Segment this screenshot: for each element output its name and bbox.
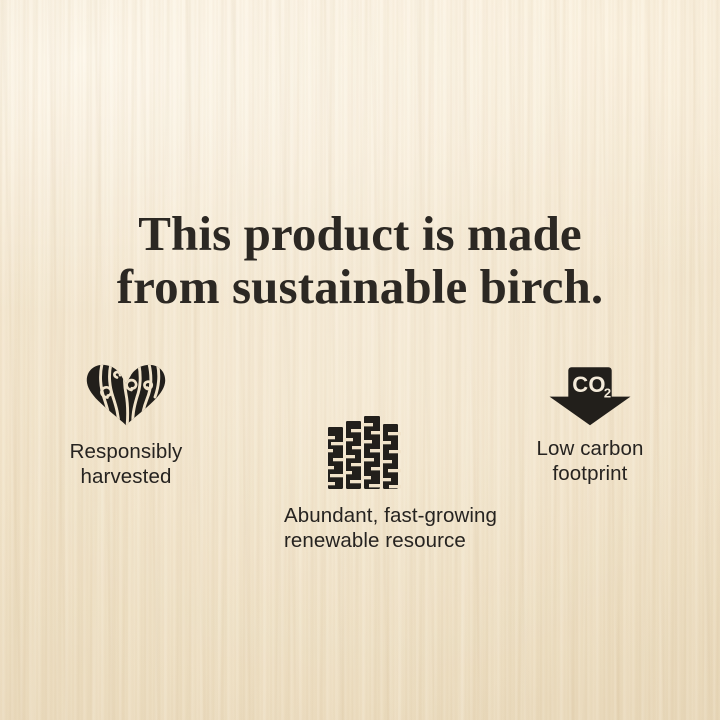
birch-trunks-icon — [327, 416, 401, 490]
feature-renewable-resource: Abundant, fast-growing renewable resourc… — [284, 416, 444, 553]
headline-line-2: from sustainable birch. — [0, 260, 720, 313]
wood-grain-heart-icon — [86, 364, 166, 426]
caption-line-2: footprint — [510, 461, 670, 486]
caption-line-1: Responsibly — [46, 439, 206, 464]
co2-icon-label: CO — [572, 372, 606, 397]
feature-responsibly-harvested: Responsibly harvested — [46, 364, 206, 489]
feature-caption-responsibly-harvested: Responsibly harvested — [46, 439, 206, 489]
headline: This product is made from sustainable bi… — [0, 207, 720, 313]
feature-caption-renewable-resource: Abundant, fast-growing renewable resourc… — [284, 503, 444, 553]
co2-down-arrow-icon: CO 2 — [547, 366, 633, 426]
caption-line-2: renewable resource — [284, 528, 444, 553]
feature-low-carbon-footprint: CO 2 Low carbon footprint — [510, 366, 670, 486]
caption-line-2: harvested — [46, 464, 206, 489]
panel-content: This product is made from sustainable bi… — [0, 0, 720, 720]
caption-line-1: Abundant, fast-growing — [284, 503, 444, 528]
wood-panel-background: This product is made from sustainable bi… — [0, 0, 720, 720]
co2-icon-subscript: 2 — [604, 386, 611, 401]
feature-caption-low-carbon-footprint: Low carbon footprint — [510, 436, 670, 486]
headline-line-1: This product is made — [0, 207, 720, 260]
caption-line-1: Low carbon — [510, 436, 670, 461]
